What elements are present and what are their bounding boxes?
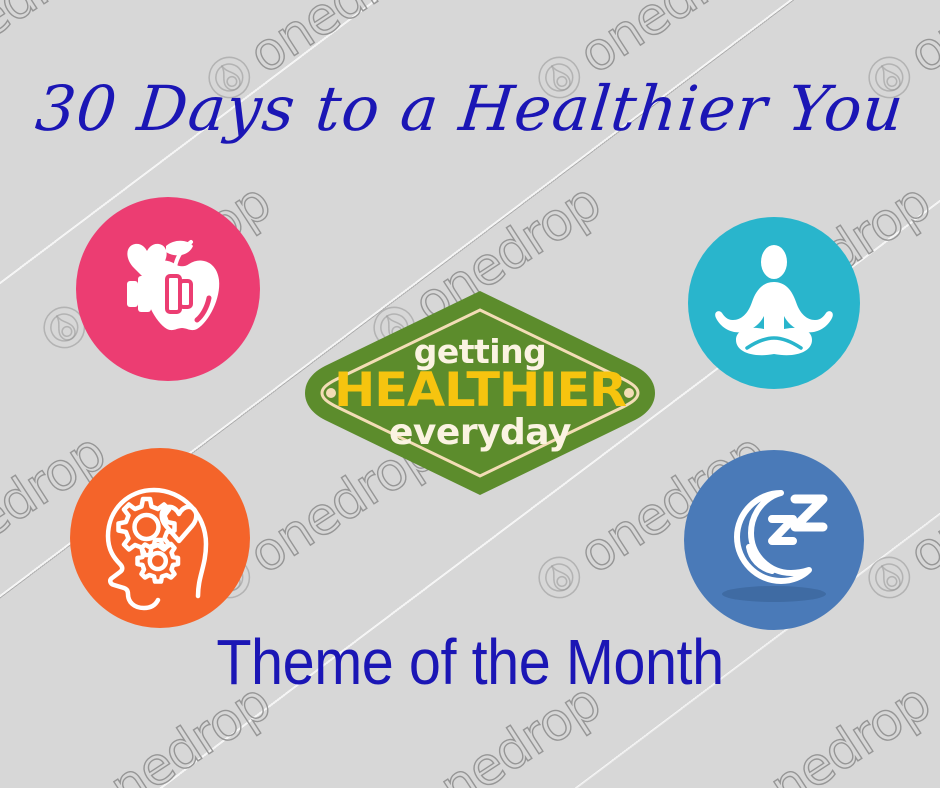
icon-badge-nutrition[interactable]: [76, 197, 260, 381]
badge-dot-left: [326, 388, 336, 398]
icon-badge-sleep[interactable]: [684, 450, 864, 630]
moon-zzz-sleep-icon: [699, 465, 849, 615]
poster-canvas: onedroponedroponedroponedroponedroponedr…: [0, 0, 940, 788]
drop-logo-icon: [857, 546, 921, 610]
icon-badge-mental-wellbeing[interactable]: [70, 448, 250, 628]
badge-dot-right: [624, 388, 634, 398]
getting-healthier-everyday-badge[interactable]: getting HEALTHIER everyday: [293, 288, 667, 498]
apple-heart-dumbbell-icon: [103, 224, 233, 354]
meditation-lotus-icon: [711, 240, 837, 366]
drop-logo-icon: [527, 546, 591, 610]
head-gear-heart-icon: [94, 472, 226, 604]
subtitle-theme-of-the-month: Theme of the Month: [47, 630, 893, 694]
icon-badge-mindfulness[interactable]: [688, 217, 860, 389]
watermark-onedrop: onedrop: [854, 422, 940, 615]
badge-shape: [293, 288, 667, 498]
watermark-text: onedrop: [899, 422, 940, 586]
page-title: 30 Days to a Healthier You: [0, 78, 940, 140]
